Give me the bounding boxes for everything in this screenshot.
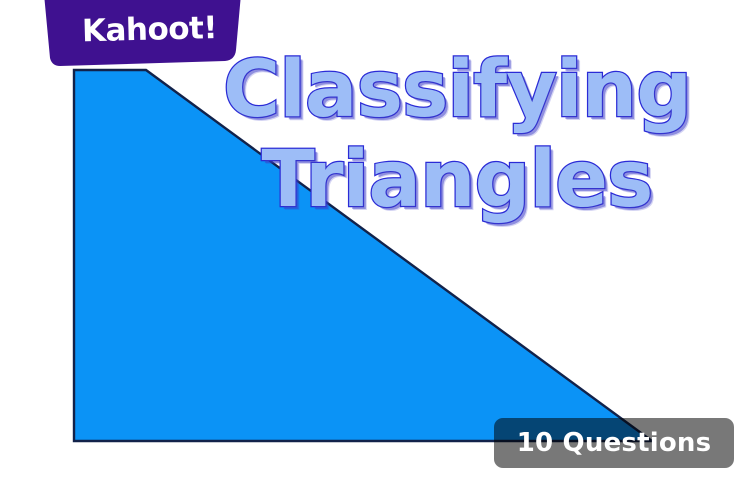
kahoot-quiz-cover: Kahoot! Classifying Triangles 10 Questio… bbox=[0, 0, 750, 500]
kahoot-wordmark: Kahoot! bbox=[35, 0, 242, 68]
question-count-label: 10 Questions bbox=[517, 428, 712, 458]
right-triangle-shape bbox=[74, 70, 652, 441]
kahoot-logo-banner[interactable]: Kahoot! bbox=[36, 0, 241, 66]
question-count-badge: 10 Questions bbox=[494, 418, 734, 468]
